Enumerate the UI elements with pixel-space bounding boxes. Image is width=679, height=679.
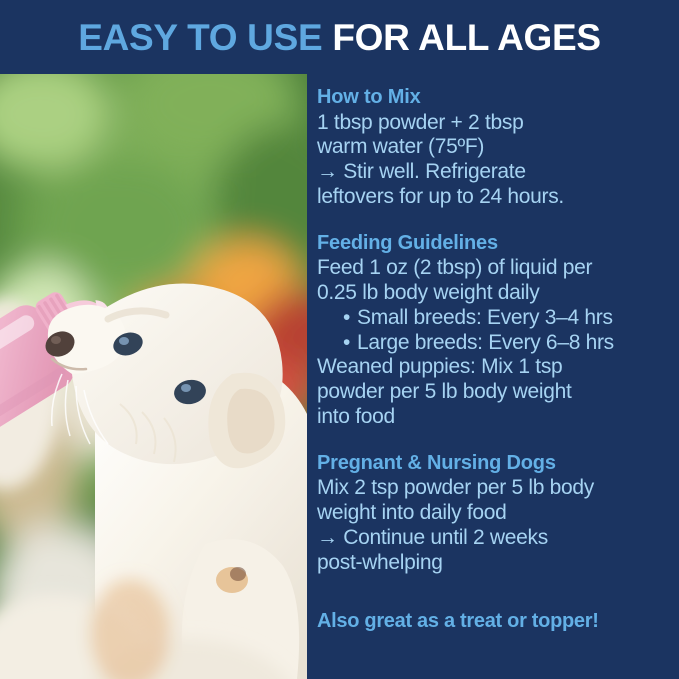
section-line-arrow: → Continue until 2 weeks <box>317 526 673 551</box>
puppy-bottle-photo <box>0 74 307 679</box>
section-line: Weaned puppies: Mix 1 tsp <box>317 355 673 380</box>
page-header: EASY TO USE FOR ALL AGES <box>0 0 679 74</box>
section-line: warm water (75ºF) <box>317 135 673 160</box>
section-line: leftovers for up to 24 hours. <box>317 185 673 210</box>
section-title: Feeding Guidelines <box>317 232 673 256</box>
section-how-to-mix: How to Mix 1 tbsp powder + 2 tbsp warm w… <box>317 86 673 210</box>
page-title-accent: EASY TO USE <box>78 17 322 58</box>
page-title-plain: FOR ALL AGES <box>322 17 600 58</box>
list-item: •Small breeds: Every 3–4 hrs <box>317 306 673 331</box>
section-feeding-guidelines: Feeding Guidelines Feed 1 oz (2 tbsp) of… <box>317 232 673 430</box>
footnote-text: Also great as a treat or topper! <box>317 609 673 633</box>
section-line: post-whelping <box>317 551 673 576</box>
page-title: EASY TO USE FOR ALL AGES <box>78 19 601 56</box>
list-item-label: Small breeds: Every 3–4 hrs <box>357 306 613 329</box>
section-title: How to Mix <box>317 86 673 110</box>
section-line: 1 tbsp powder + 2 tbsp <box>317 111 673 136</box>
bullet-icon: • <box>343 331 357 356</box>
section-title: Pregnant & Nursing Dogs <box>317 452 673 476</box>
section-line-arrow: → Stir well. Refrigerate <box>317 160 673 185</box>
instructions-column: How to Mix 1 tbsp powder + 2 tbsp warm w… <box>307 74 679 679</box>
list-item: •Large breeds: Every 6–8 hrs <box>317 331 673 356</box>
infographic-page: EASY TO USE FOR ALL AGES <box>0 0 679 679</box>
section-line: weight into daily food <box>317 501 673 526</box>
section-line: Feed 1 oz (2 tbsp) of liquid per <box>317 256 673 281</box>
section-line: Mix 2 tsp powder per 5 lb body <box>317 476 673 501</box>
section-line: into food <box>317 405 673 430</box>
photo-artwork <box>0 74 307 679</box>
section-line: powder per 5 lb body weight <box>317 380 673 405</box>
section-pregnant-nursing-dogs: Pregnant & Nursing Dogs Mix 2 tsp powder… <box>317 452 673 576</box>
section-line: 0.25 lb body weight daily <box>317 281 673 306</box>
bullet-icon: • <box>343 306 357 331</box>
list-item-label: Large breeds: Every 6–8 hrs <box>357 331 614 354</box>
